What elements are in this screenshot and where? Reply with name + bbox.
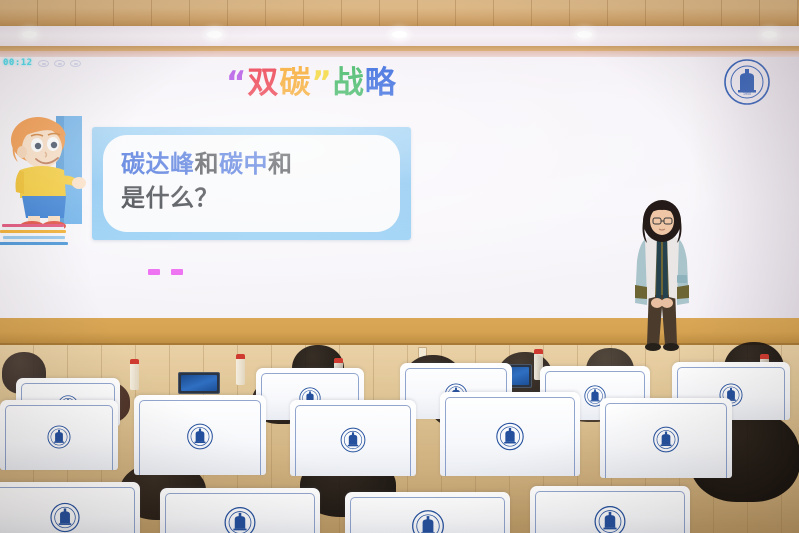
slide-title-char-2: 双 — [247, 65, 279, 101]
wall-panel — [76, 0, 114, 27]
bottle-cap-icon — [760, 354, 769, 359]
wall-panel — [418, 0, 456, 27]
laptop-screen — [181, 375, 217, 391]
water-bottle — [236, 358, 245, 385]
wall-panel — [380, 0, 418, 27]
slide-bullet-dashes — [148, 269, 183, 275]
dash-1-icon — [148, 269, 160, 275]
audience-chair — [345, 492, 510, 533]
wall-panel — [684, 0, 722, 27]
bottle-cap-icon — [334, 358, 343, 363]
cartoon-boy-on-books-icon — [0, 112, 94, 248]
slide-title-char-5: 战 — [333, 65, 365, 101]
wall-panel — [532, 0, 570, 27]
slide-title-char-4: ” — [311, 65, 332, 101]
presenter-speaker — [621, 199, 703, 355]
wall-panel — [646, 0, 684, 27]
slide-title-char-6: 略 — [365, 65, 397, 101]
audience-chair — [600, 398, 732, 478]
wall-panel — [304, 0, 342, 27]
question-line-1: 碳达峰和碳中和 — [121, 147, 392, 181]
water-bottle — [130, 363, 139, 390]
wall-panel — [152, 0, 190, 27]
osd-timer: 00:12 — [3, 58, 33, 68]
chair-emblem-icon — [186, 422, 215, 451]
wall-panel — [190, 0, 228, 27]
audience-chair — [160, 488, 320, 533]
question-segment-3: 碳中 — [219, 150, 268, 178]
wall-panel — [114, 0, 152, 27]
laptop — [178, 372, 220, 394]
wall-panel — [722, 0, 760, 27]
wall-panel — [0, 0, 38, 27]
audience-chair — [290, 400, 416, 476]
audience-chair — [0, 400, 118, 470]
bottle-cap-icon — [534, 349, 543, 354]
audience-chair — [440, 392, 580, 476]
chair-emblem-icon — [223, 505, 258, 533]
back-wall-upper — [0, 0, 799, 27]
audience-chair — [134, 395, 266, 475]
wall-panel — [38, 0, 76, 27]
lecture-hall-scene: 00:12 “双碳”战略 碳达峰和碳中和 是什么？ — [0, 0, 799, 533]
wall-panel — [228, 0, 266, 27]
slide-question-panel: 碳达峰和碳中和 是什么？ — [103, 135, 400, 232]
downlight-icon — [577, 31, 592, 38]
osd-indicator-2-icon — [54, 60, 65, 67]
slide-question-text: 碳达峰和碳中和 是什么？ — [121, 147, 392, 215]
wall-panel — [456, 0, 494, 27]
wall-panel — [608, 0, 646, 27]
downlight-icon — [207, 31, 222, 38]
chair-emblem-icon — [652, 425, 681, 454]
audience-chair — [530, 486, 690, 533]
chair-emblem-icon — [593, 504, 628, 533]
chair-emblem-icon — [495, 421, 526, 452]
question-segment-4: 和 — [268, 150, 293, 178]
bottle-cap-icon — [130, 359, 139, 364]
wall-panel — [570, 0, 608, 27]
osd-indicator-1-icon — [38, 60, 49, 67]
chair-emblem-icon — [49, 501, 82, 533]
chair-emblem-icon — [339, 426, 367, 454]
slide-title-char-1: “ — [226, 65, 247, 101]
chair-emblem-icon — [410, 508, 446, 533]
wall-panel — [494, 0, 532, 27]
wall-panel — [342, 0, 380, 27]
downlight-icon — [22, 31, 37, 38]
question-segment-2: 和 — [195, 150, 220, 178]
wall-panel — [760, 0, 798, 27]
question-segment-1: 碳达峰 — [121, 150, 195, 178]
bottle-cap-icon — [236, 354, 245, 359]
question-line-2: 是什么？ — [121, 181, 392, 215]
dash-2-icon — [171, 269, 183, 275]
downlight-icon — [392, 31, 407, 38]
chair-emblem-icon — [46, 424, 72, 450]
screen-edge-shading — [689, 57, 799, 320]
slide-title-char-3: 碳 — [279, 65, 311, 101]
audience-chair — [0, 482, 140, 533]
osd-indicator-3-icon — [70, 60, 81, 67]
slide-title: “双碳”战略 — [226, 65, 506, 101]
downlight-icon — [762, 31, 777, 38]
wall-panel — [266, 0, 304, 27]
projector-osd: 00:12 — [3, 56, 81, 70]
slide-question-box: 碳达峰和碳中和 是什么？ — [92, 127, 411, 240]
